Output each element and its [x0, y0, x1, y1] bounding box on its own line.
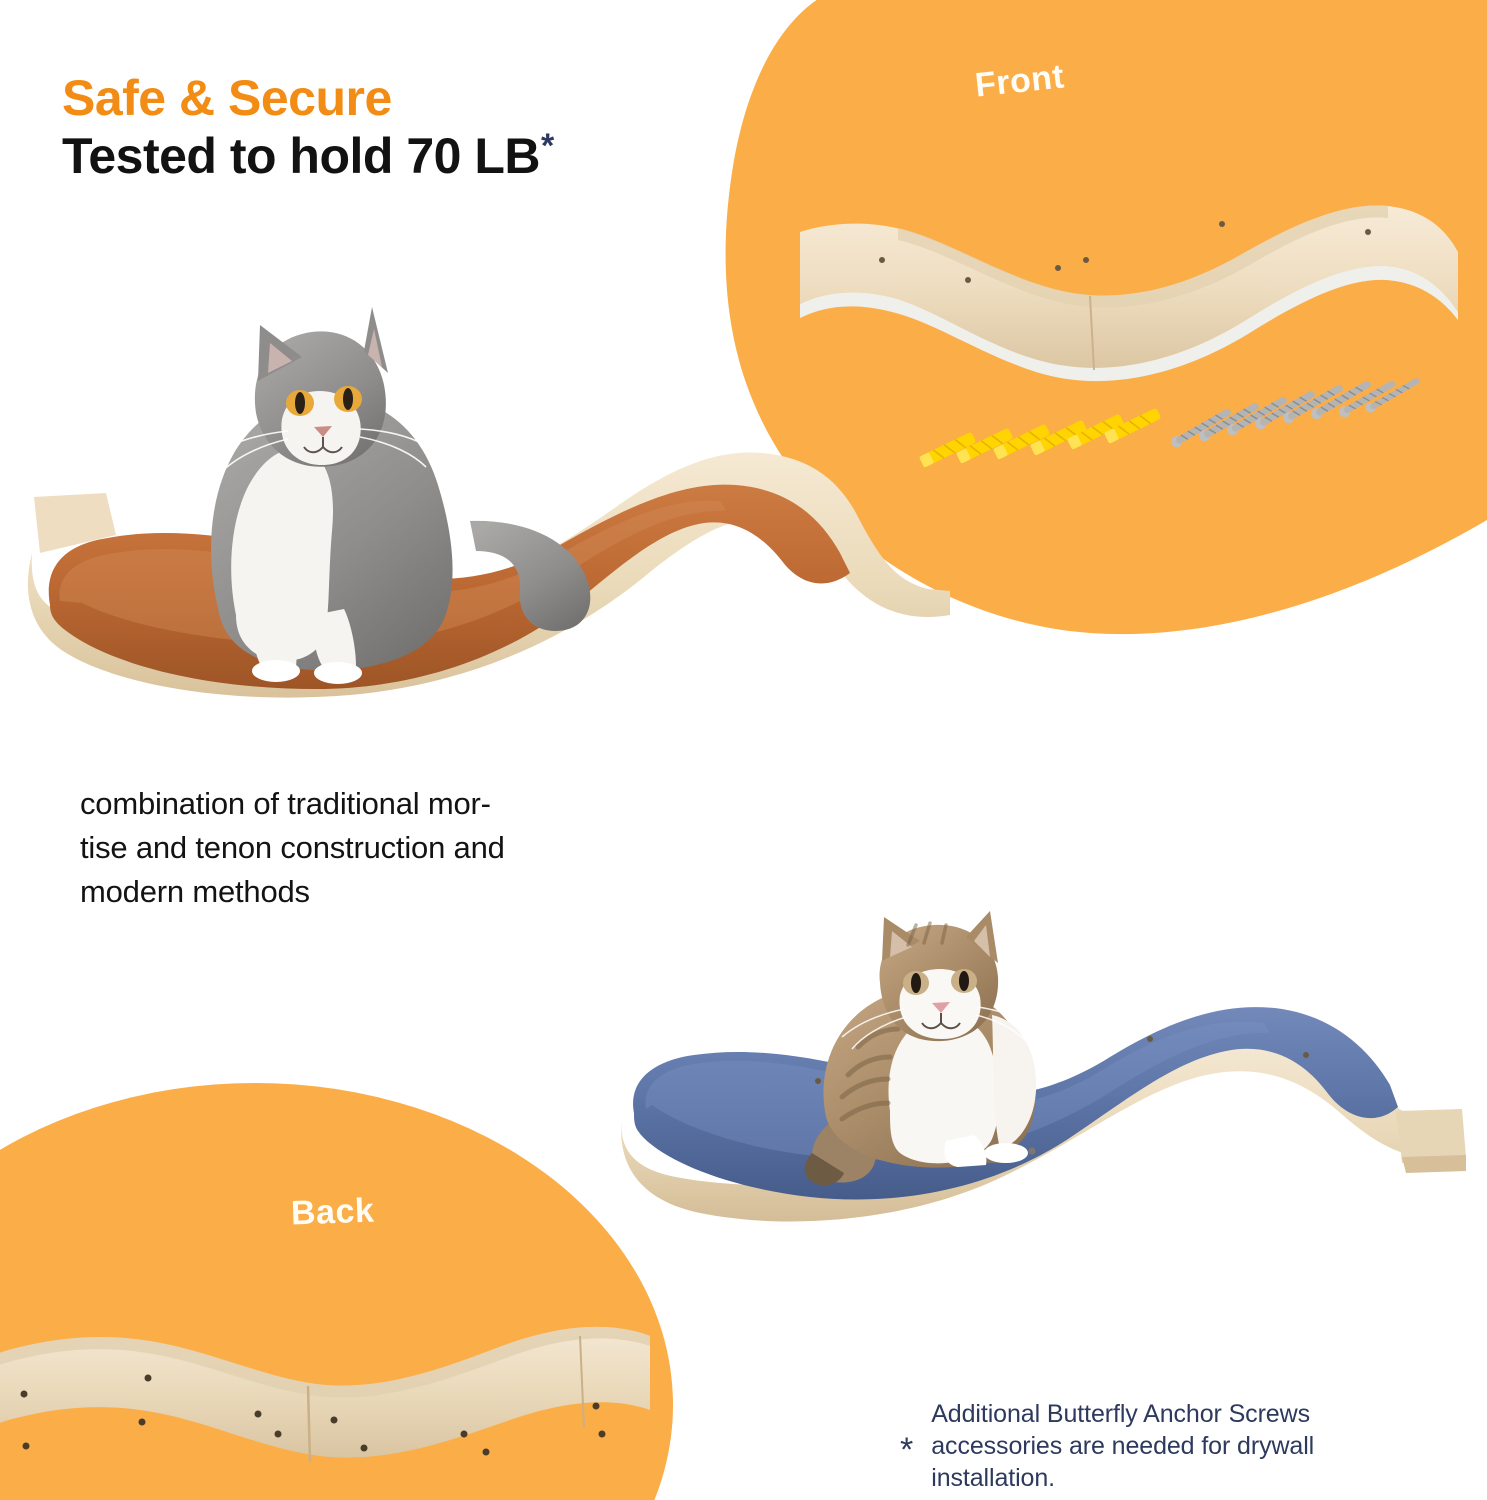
footnote-asterisk-icon: *	[900, 1433, 913, 1467]
cat-pupil-right	[343, 388, 353, 410]
cat-paw-left	[252, 660, 300, 682]
product-infographic-page: Safe & Secure Tested to hold 70 LB*	[0, 0, 1487, 1500]
footnote-block: * Additional Butterfly Anchor Screws acc…	[900, 1398, 1460, 1494]
footnote-line-3: installation.	[931, 1462, 1314, 1494]
cat-tabby	[805, 911, 1036, 1185]
screws-group	[1165, 380, 1405, 490]
body-line-2: tise and tenon construction and	[80, 826, 660, 870]
cat-paw-front-right	[984, 1143, 1028, 1163]
footnote-line-2: accessories are needed for drywall	[931, 1430, 1314, 1462]
cat-pupil-right	[959, 971, 969, 991]
back-shelf-illustration	[0, 1250, 690, 1500]
cat-pupil-left	[295, 392, 305, 414]
cat-leg-front-left	[254, 607, 297, 667]
footnote-text: Additional Butterfly Anchor Screws acces…	[931, 1398, 1314, 1494]
headline-line-2: Tested to hold 70 LB*	[62, 128, 722, 184]
body-line-1: combination of traditional mor-	[80, 782, 660, 826]
headline-block: Safe & Secure Tested to hold 70 LB*	[62, 72, 722, 184]
cat-paw-right	[314, 662, 362, 684]
wall-anchors-group	[915, 405, 1165, 505]
body-paragraph: combination of traditional mor- tise and…	[80, 782, 660, 914]
photo-tabby-cat	[590, 905, 1480, 1215]
headline-line-2-text: Tested to hold 70 LB	[62, 128, 540, 184]
shelf-mount-bracket-right	[1396, 1109, 1466, 1163]
cat-pupil-left	[911, 973, 921, 993]
headline-footnote-asterisk: *	[541, 127, 554, 165]
headline-line-1: Safe & Secure	[62, 72, 722, 124]
back-panel-label: Back	[290, 1192, 375, 1234]
body-line-3: modern methods	[80, 870, 660, 914]
footnote-line-1: Additional Butterfly Anchor Screws	[931, 1398, 1314, 1430]
shelf-mount-bracket-lip	[1402, 1155, 1466, 1173]
